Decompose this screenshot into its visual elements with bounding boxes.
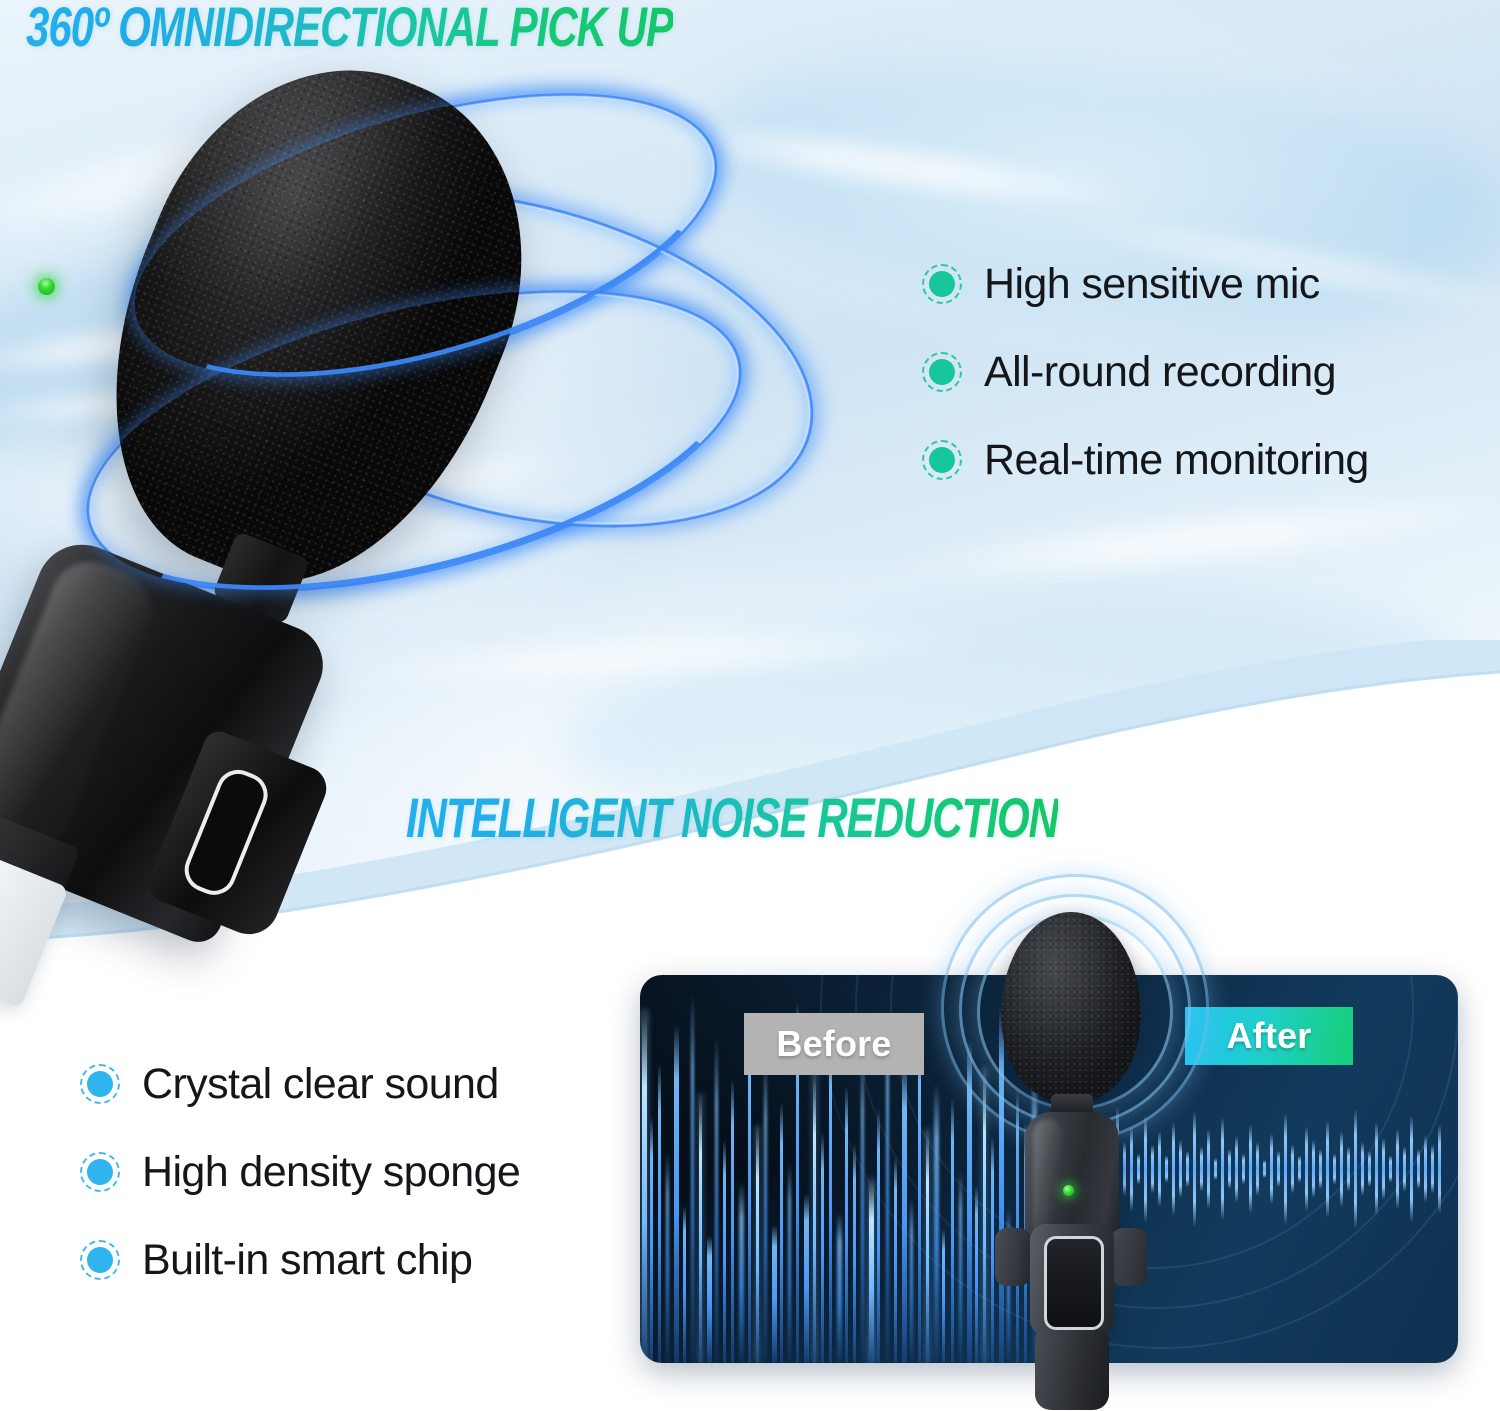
page-title-bottom: INTELLIGENT NOISE REDUCTION (406, 787, 1058, 850)
led-indicator-icon (35, 275, 57, 297)
bullet-dot-icon (922, 440, 962, 480)
waveform-bar (1361, 1142, 1364, 1196)
feature-list-noise-reduction: Crystal clear sound High density sponge … (80, 1040, 520, 1304)
waveform-bar (1305, 1127, 1308, 1212)
product-feature-graphic: 360º OMNIDIRECTIONAL PICK UP 360º OMNIDI… (0, 0, 1500, 1411)
bullet-dot-icon (80, 1064, 120, 1104)
waveform-bar (1424, 1136, 1427, 1203)
list-item-label: Real-time monitoring (984, 439, 1369, 482)
list-item-label: Crystal clear sound (142, 1063, 499, 1106)
list-item-label: Built-in smart chip (142, 1239, 472, 1282)
list-item: All-round recording (922, 328, 1369, 416)
list-item: High density sponge (80, 1128, 520, 1216)
microphone-connector (1035, 1330, 1109, 1410)
waveform-bar (1403, 1147, 1406, 1192)
list-item: High sensitive mic (922, 240, 1369, 328)
waveform-bar (1340, 1131, 1343, 1207)
waveform-bar (1256, 1142, 1259, 1196)
led-indicator-icon (1063, 1185, 1074, 1196)
waveform-bar (1375, 1122, 1378, 1216)
waveform-bar (1277, 1151, 1280, 1187)
list-item-label: All-round recording (984, 351, 1336, 394)
list-item-label: High density sponge (142, 1151, 520, 1194)
waveform-bar (1165, 1156, 1168, 1183)
waveform-bar (1242, 1154, 1245, 1185)
bullet-dot-icon (922, 264, 962, 304)
list-item: Built-in smart chip (80, 1216, 520, 1304)
waveform-bar (1319, 1149, 1322, 1189)
waveform-bar (1333, 1154, 1336, 1185)
microphone-foam-windscreen (1001, 912, 1141, 1102)
feature-list-omnidirectional: High sensitive mic All-round recording R… (922, 240, 1369, 504)
bullet-dot-icon (80, 1240, 120, 1280)
waveform-bar (1417, 1149, 1420, 1189)
waveform-bar (1382, 1138, 1385, 1200)
waveform-bar (1347, 1147, 1350, 1192)
waveform-bar (1186, 1151, 1189, 1187)
waveform-bar (1389, 1156, 1392, 1183)
list-item: Real-time monitoring (922, 416, 1369, 504)
waveform-bar (1284, 1113, 1287, 1225)
waveform-bar (1172, 1122, 1175, 1216)
page-title-top: 360º OMNIDIRECTIONAL PICK UP (26, 0, 673, 59)
microphone-clip-plate (1030, 1224, 1114, 1336)
waveform-bar (1221, 1118, 1224, 1221)
waveform-bar (1214, 1158, 1217, 1180)
waveform-bar (1263, 1160, 1266, 1178)
bullet-dot-icon (80, 1152, 120, 1192)
waveform-bar (1354, 1109, 1357, 1229)
microphone-clip-left (995, 1228, 1031, 1286)
waveform-bar (1179, 1140, 1182, 1198)
waveform-bar (1235, 1136, 1238, 1203)
badge-before: Before (744, 1013, 924, 1075)
waveform-bar (1200, 1147, 1203, 1192)
waveform-bar (1270, 1134, 1273, 1205)
waveform-bar (1207, 1129, 1210, 1209)
waveform-bar (1249, 1125, 1252, 1214)
list-item-label: High sensitive mic (984, 263, 1320, 306)
microphone-foam-windscreen (46, 15, 584, 636)
waveform-bar (1312, 1140, 1315, 1198)
waveform-bar (1396, 1129, 1399, 1209)
waveform-bar (1298, 1156, 1301, 1183)
waveform-bar (1410, 1116, 1413, 1223)
list-item: Crystal clear sound (80, 1040, 520, 1128)
waveform-bar (1326, 1120, 1329, 1218)
waveform-bar (1291, 1145, 1294, 1194)
waveform-bar (1431, 1145, 1434, 1194)
small-microphone-product-image (975, 880, 1165, 1411)
waveform-bar (1228, 1149, 1231, 1189)
badge-after: After (1185, 1007, 1353, 1065)
waveform-bar (1368, 1151, 1371, 1187)
microphone-clip-right (1111, 1228, 1147, 1286)
bullet-dot-icon (922, 352, 962, 392)
waveform-bar (1193, 1111, 1196, 1227)
waveform-bar (1438, 1125, 1441, 1214)
